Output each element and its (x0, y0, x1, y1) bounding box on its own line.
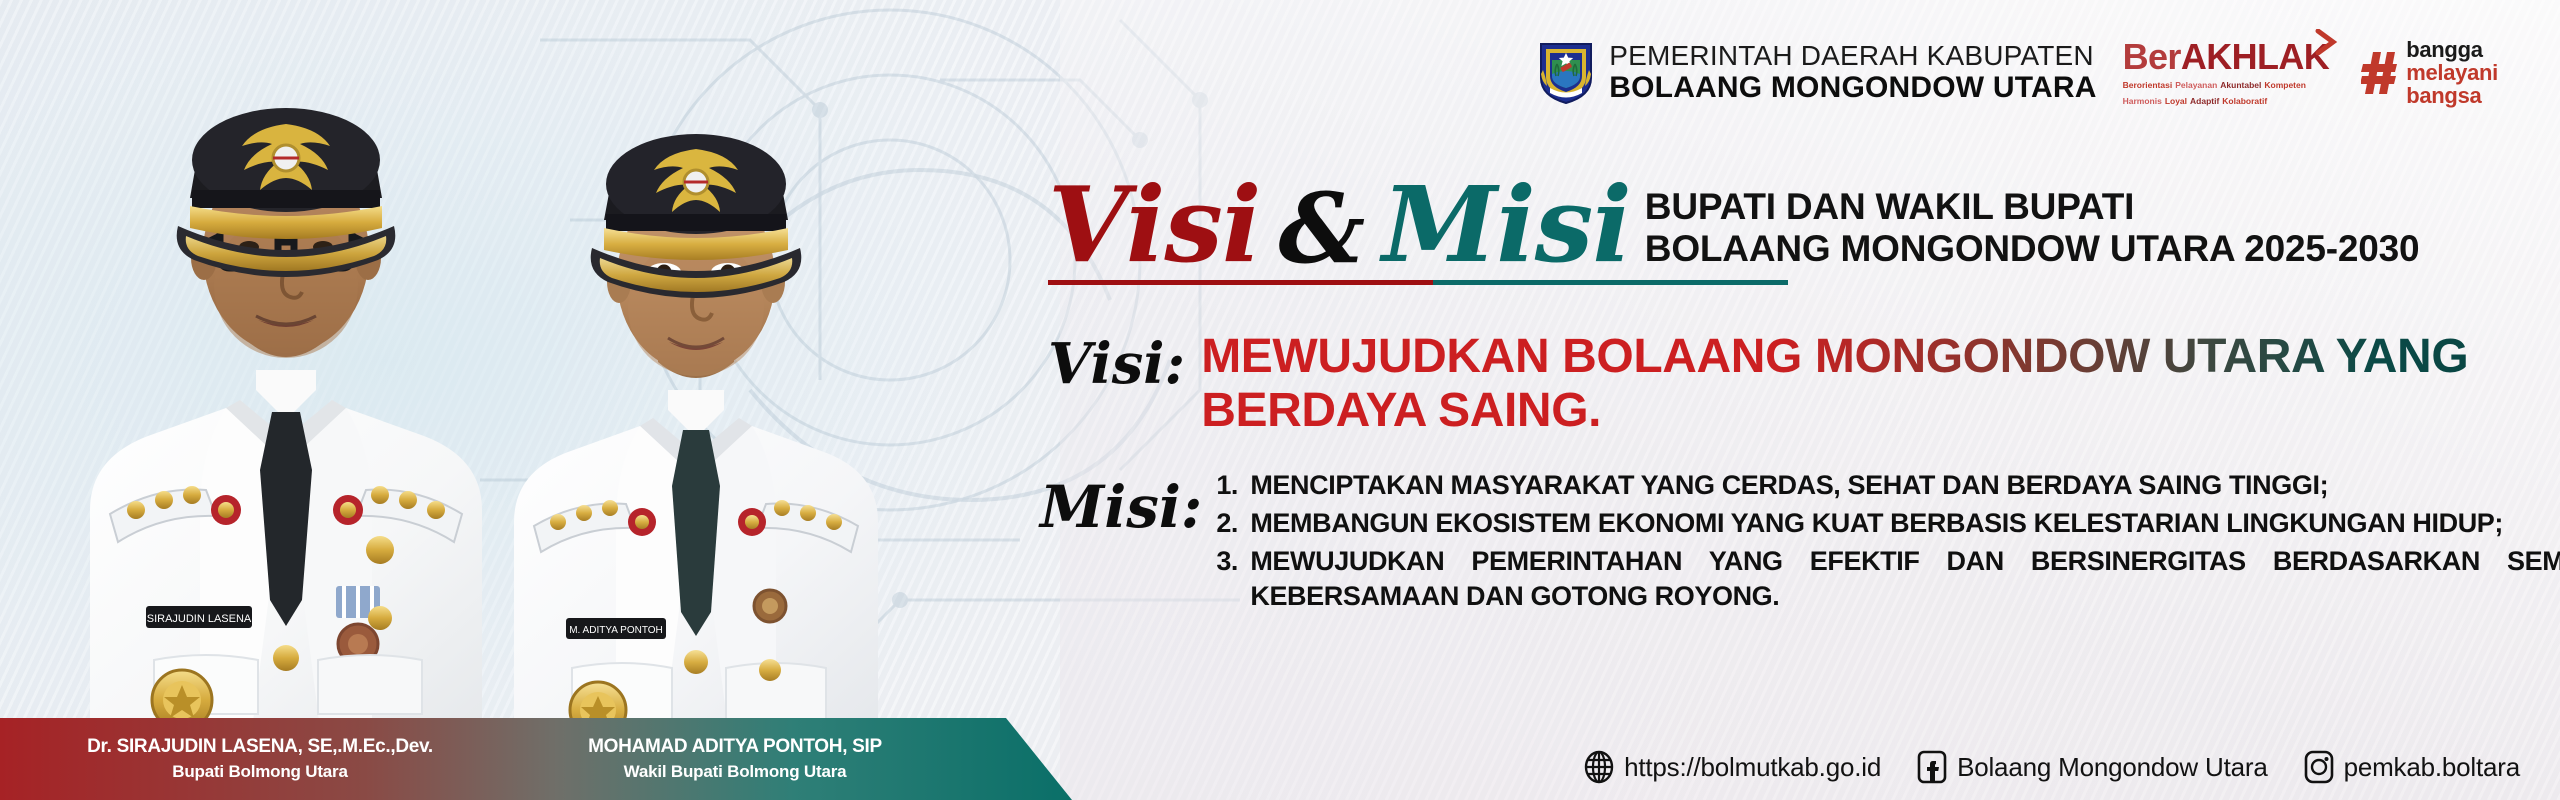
government-line-2: BOLAANG MONGONDOW UTARA (1609, 73, 2096, 103)
misi-list: 1. MENCIPTAKAN MASYARAKAT YANG CERDAS, S… (1216, 468, 2560, 617)
visi-statement: MEWUJUDKAN BOLAANG MONGONDOW UTARA YANG … (1201, 330, 2560, 438)
berakhlak-tag-7: Kolaboratif (2222, 96, 2267, 106)
subtitle-line-2: BOLAANG MONGONDOW UTARA 2025-2030 (1645, 229, 2420, 268)
berakhlak-tag-5: Loyal (2165, 96, 2187, 106)
chevron-right-icon (2313, 29, 2339, 55)
facebook-label: Bolaang Mongondow Utara (1957, 752, 2268, 783)
berakhlak-tag-3: Kompeten (2264, 80, 2306, 90)
portrait-wakil-bupati: M. ADITYA PONTOH (480, 70, 910, 760)
visi-misi-banner: SIRAJUDIN LASENA (0, 0, 2560, 800)
misi-item-2-number: 2. (1216, 506, 1250, 541)
berakhlak-tag-4: Harmonis (2123, 96, 2162, 106)
footer-person-2-name: MOHAMAD ADITYA PONTOH, SIP (520, 735, 950, 759)
misi-item-3-number: 3. (1216, 544, 1250, 579)
berakhlak-tag-1: Pelayanan (2175, 80, 2217, 90)
instagram-icon (2302, 750, 2336, 784)
title-row: Visi & Misi BUPATI DAN WAKIL BUPATI BOLA… (1048, 176, 2419, 274)
footer-person-wakil-bupati: MOHAMAD ADITYA PONTOH, SIP Wakil Bupati … (520, 735, 950, 783)
government-line-1: PEMERINTAH DAERAH KABUPATEN (1609, 42, 2096, 70)
officials-footer-bar: Dr. SIRAJUDIN LASENA, SE,.M.Ec.,Dev. Bup… (0, 718, 1072, 800)
government-lockup: PEMERINTAH DAERAH KABUPATEN BOLAANG MONG… (1537, 40, 2096, 106)
svg-text:SIRAJUDIN LASENA: SIRAJUDIN LASENA (147, 613, 252, 625)
globe-icon (1582, 750, 1616, 784)
misi-item-1-text: MENCIPTAKAN MASYARAKAT YANG CERDAS, SEHA… (1250, 468, 2560, 503)
misi-item-2: 2. MEMBANGUN EKOSISTEM EKONOMI YANG KUAT… (1216, 506, 2560, 541)
main-title-block: Visi & Misi BUPATI DAN WAKIL BUPATI BOLA… (1048, 176, 2419, 285)
berakhlak-tagline-line-1: BerorientasiPelayananAkuntabelKompeten (2123, 80, 2330, 91)
visi-section: Visi: MEWUJUDKAN BOLAANG MONGONDOW UTARA… (1048, 330, 2560, 438)
footer-person-1-role: Bupati Bolmong Utara (0, 761, 520, 783)
contact-instagram[interactable]: pemkab.boltara (2302, 750, 2520, 784)
website-label: https://bolmutkab.go.id (1624, 752, 1881, 783)
berakhlak-logo: BerAKHLAK BerorientasiPelayananAkuntabel… (2123, 39, 2336, 107)
bangga-line-1: bangga (2406, 38, 2498, 61)
bolaang-mongondow-utara-coat-of-arms-icon (1537, 40, 1595, 106)
berakhlak-tag-2: Akuntabel (2220, 80, 2261, 90)
bangga-wordmark: bangga melayani bangsa (2406, 38, 2498, 107)
visi-label: Visi: (1048, 336, 1185, 392)
footer-person-2-role: Wakil Bupati Bolmong Utara (520, 761, 950, 783)
hashtag-icon (2361, 50, 2397, 96)
berakhlak-wordmark: BerAKHLAK (2123, 39, 2330, 75)
title-ampersand: & (1278, 184, 1364, 274)
berakhlak-tag-0: Berorientasi (2123, 80, 2173, 90)
misi-item-3-text: MEWUJUDKAN PEMERINTAHAN YANG EFEKTIF DAN… (1250, 544, 2560, 614)
berakhlak-tag-6: Adaptif (2190, 96, 2219, 106)
title-visi-word: Visi (1048, 176, 1260, 274)
title-misi-word: Misi (1382, 176, 1631, 274)
misi-item-1: 1. MENCIPTAKAN MASYARAKAT YANG CERDAS, S… (1216, 468, 2560, 503)
bangga-line-2: melayani (2406, 61, 2498, 84)
berakhlak-tagline-line-2: HarmonisLoyalAdaptifKolaboratif (2123, 96, 2330, 107)
berakhlak-suffix: AKHLAK (2181, 36, 2329, 77)
contact-bar: https://bolmutkab.go.id Bolaang Mongondo… (1582, 750, 2520, 784)
misi-section: Misi: 1. MENCIPTAKAN MASYARAKAT YANG CER… (1040, 468, 2560, 617)
berakhlak-prefix: Ber (2123, 36, 2181, 77)
portrait-bupati: SIRAJUDIN LASENA (50, 40, 520, 760)
subtitle-line-1: BUPATI DAN WAKIL BUPATI (1645, 187, 2420, 226)
title-subtitle: BUPATI DAN WAKIL BUPATI BOLAANG MONGONDO… (1645, 187, 2420, 273)
instagram-label: pemkab.boltara (2344, 752, 2520, 783)
contact-facebook[interactable]: Bolaang Mongondow Utara (1915, 750, 2268, 784)
misi-item-3: 3. MEWUJUDKAN PEMERINTAHAN YANG EFEKTIF … (1216, 544, 2560, 614)
misi-item-1-number: 1. (1216, 468, 1250, 503)
contact-website[interactable]: https://bolmutkab.go.id (1582, 750, 1881, 784)
facebook-icon (1915, 750, 1949, 784)
footer-person-bupati: Dr. SIRAJUDIN LASENA, SE,.M.Ec.,Dev. Bup… (0, 735, 520, 783)
officials-portraits: SIRAJUDIN LASENA (0, 0, 1060, 760)
misi-label: Misi: (1040, 478, 1202, 536)
bangga-melayani-bangsa-logo: bangga melayani bangsa (2361, 38, 2498, 107)
government-name: PEMERINTAH DAERAH KABUPATEN BOLAANG MONG… (1609, 42, 2096, 103)
footer-person-1-name: Dr. SIRAJUDIN LASENA, SE,.M.Ec.,Dev. (0, 735, 520, 759)
bangga-line-3: bangsa (2406, 84, 2498, 107)
misi-item-2-text: MEMBANGUN EKOSISTEM EKONOMI YANG KUAT BE… (1250, 506, 2560, 541)
header-logo-group: PEMERINTAH DAERAH KABUPATEN BOLAANG MONG… (1537, 38, 2498, 107)
svg-text:M. ADITYA PONTOH: M. ADITYA PONTOH (569, 625, 663, 636)
